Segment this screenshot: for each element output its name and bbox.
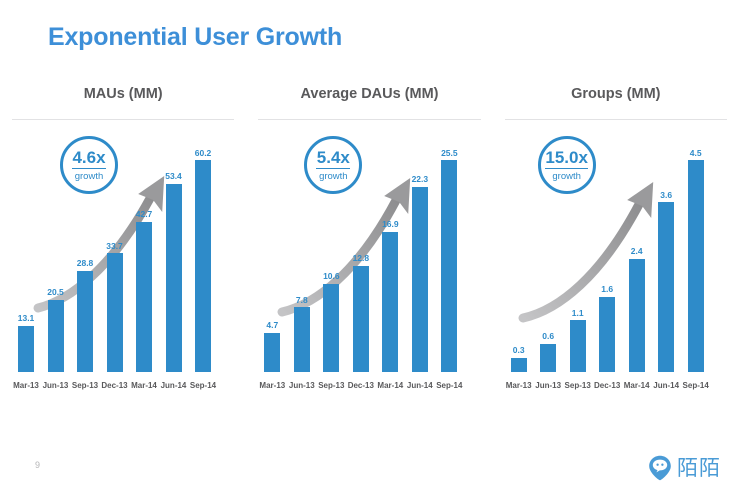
bar-series: 0.30.61.11.62.43.64.5 <box>493 128 739 372</box>
bar-value-label: 4.5 <box>690 149 702 158</box>
bar-value-label: 16.9 <box>382 220 399 229</box>
x-axis-tick-label: Sep-14 <box>183 381 223 390</box>
bar-item[interactable]: 42.7 <box>136 128 152 372</box>
bar-value-label: 2.4 <box>631 247 643 256</box>
growth-badge: 4.6xgrowth <box>60 136 118 194</box>
bar-rect[interactable] <box>77 271 93 372</box>
bar-rect[interactable] <box>323 284 339 372</box>
bar-value-label: 1.1 <box>572 309 584 318</box>
chart-panel-3: Groups (MM)15.0xgrowthMar-13Jun-13Sep-13… <box>493 86 739 416</box>
chart-title: MAUs (MM) <box>12 86 234 120</box>
bar-value-label: 4.7 <box>266 321 278 330</box>
bar-value-label: 60.2 <box>195 149 212 158</box>
bar-rect[interactable] <box>353 266 369 372</box>
bar-value-label: 1.6 <box>601 285 613 294</box>
bar-value-label: 0.3 <box>513 346 525 355</box>
bar-value-label: 28.8 <box>77 259 94 268</box>
growth-multiple: 15.0x <box>545 149 588 169</box>
bar-item[interactable]: 53.4 <box>166 128 182 372</box>
bar-rect[interactable] <box>511 358 527 372</box>
plot-area: 5.4xgrowthMar-13Jun-13Sep-13Dec-13Mar-14… <box>246 128 492 416</box>
bar-value-label: 20.5 <box>47 288 64 297</box>
bar-value-label: 42.7 <box>136 210 153 219</box>
bar-item[interactable]: 16.9 <box>382 128 398 372</box>
bar-value-label: 33.7 <box>106 242 123 251</box>
bar-item[interactable]: 22.3 <box>412 128 428 372</box>
growth-badge: 15.0xgrowth <box>538 136 596 194</box>
page-number: 9 <box>35 460 40 470</box>
bar-rect[interactable] <box>294 307 310 372</box>
chart-panel-1: MAUs (MM)4.6xgrowthMar-13Jun-13Sep-13Dec… <box>0 86 246 416</box>
bar-item[interactable]: 4.5 <box>688 128 704 372</box>
bar-rect[interactable] <box>195 160 211 372</box>
growth-label: growth <box>75 169 104 182</box>
brand-name: 陌陌 <box>677 458 721 479</box>
bar-value-label: 53.4 <box>165 172 182 181</box>
bar-value-label: 22.3 <box>412 175 429 184</box>
bar-value-label: 7.8 <box>296 296 308 305</box>
bar-rect[interactable] <box>107 253 123 372</box>
header-divider <box>258 119 480 120</box>
page-title: Exponential User Growth <box>48 23 342 52</box>
bar-item[interactable]: 60.2 <box>195 128 211 372</box>
bar-rect[interactable] <box>688 160 704 372</box>
bar-rect[interactable] <box>136 222 152 372</box>
charts-container: MAUs (MM)4.6xgrowthMar-13Jun-13Sep-13Dec… <box>0 86 739 416</box>
bar-rect[interactable] <box>382 232 398 373</box>
growth-label: growth <box>552 169 581 182</box>
bar-series: 13.120.528.833.742.753.460.2 <box>0 128 246 372</box>
bar-value-label: 3.6 <box>660 191 672 200</box>
bar-rect[interactable] <box>264 333 280 372</box>
bar-value-label: 25.5 <box>441 149 458 158</box>
x-axis-tick-label: Sep-14 <box>429 381 469 390</box>
growth-multiple: 5.4x <box>316 149 350 169</box>
bar-item[interactable]: 1.6 <box>599 128 615 372</box>
bar-rect[interactable] <box>18 326 34 372</box>
bar-value-label: 10.6 <box>323 272 340 281</box>
bar-item[interactable]: 2.4 <box>629 128 645 372</box>
chart-title: Average DAUs (MM) <box>258 86 480 120</box>
growth-badge: 5.4xgrowth <box>304 136 362 194</box>
bar-value-label: 12.8 <box>353 254 370 263</box>
chart-title: Groups (MM) <box>505 86 727 120</box>
bar-rect[interactable] <box>412 187 428 372</box>
bar-value-label: 13.1 <box>18 314 35 323</box>
momo-pin-icon <box>648 455 672 481</box>
plot-area: 15.0xgrowthMar-13Jun-13Sep-13Dec-13Mar-1… <box>493 128 739 416</box>
bar-item[interactable]: 25.5 <box>441 128 457 372</box>
header-divider <box>505 119 727 120</box>
brand-logo: 陌陌 <box>648 455 721 481</box>
growth-multiple: 4.6x <box>72 149 106 169</box>
bar-rect[interactable] <box>441 160 457 372</box>
bar-rect[interactable] <box>540 344 556 372</box>
bar-item[interactable]: 3.6 <box>658 128 674 372</box>
bar-value-label: 0.6 <box>542 332 554 341</box>
plot-area: 4.6xgrowthMar-13Jun-13Sep-13Dec-13Mar-14… <box>0 128 246 416</box>
bar-rect[interactable] <box>166 184 182 372</box>
bar-item[interactable]: 13.1 <box>18 128 34 372</box>
chart-panel-2: Average DAUs (MM)5.4xgrowthMar-13Jun-13S… <box>246 86 492 416</box>
bar-rect[interactable] <box>599 297 615 372</box>
bar-rect[interactable] <box>629 259 645 372</box>
bar-series: 4.77.810.612.816.922.325.5 <box>246 128 492 372</box>
x-axis-tick-label: Sep-14 <box>676 381 716 390</box>
bar-item[interactable]: 0.3 <box>511 128 527 372</box>
bar-rect[interactable] <box>570 320 586 372</box>
bar-rect[interactable] <box>48 300 64 372</box>
bar-item[interactable]: 4.7 <box>264 128 280 372</box>
header-divider <box>12 119 234 120</box>
growth-label: growth <box>319 169 348 182</box>
bar-rect[interactable] <box>658 202 674 372</box>
